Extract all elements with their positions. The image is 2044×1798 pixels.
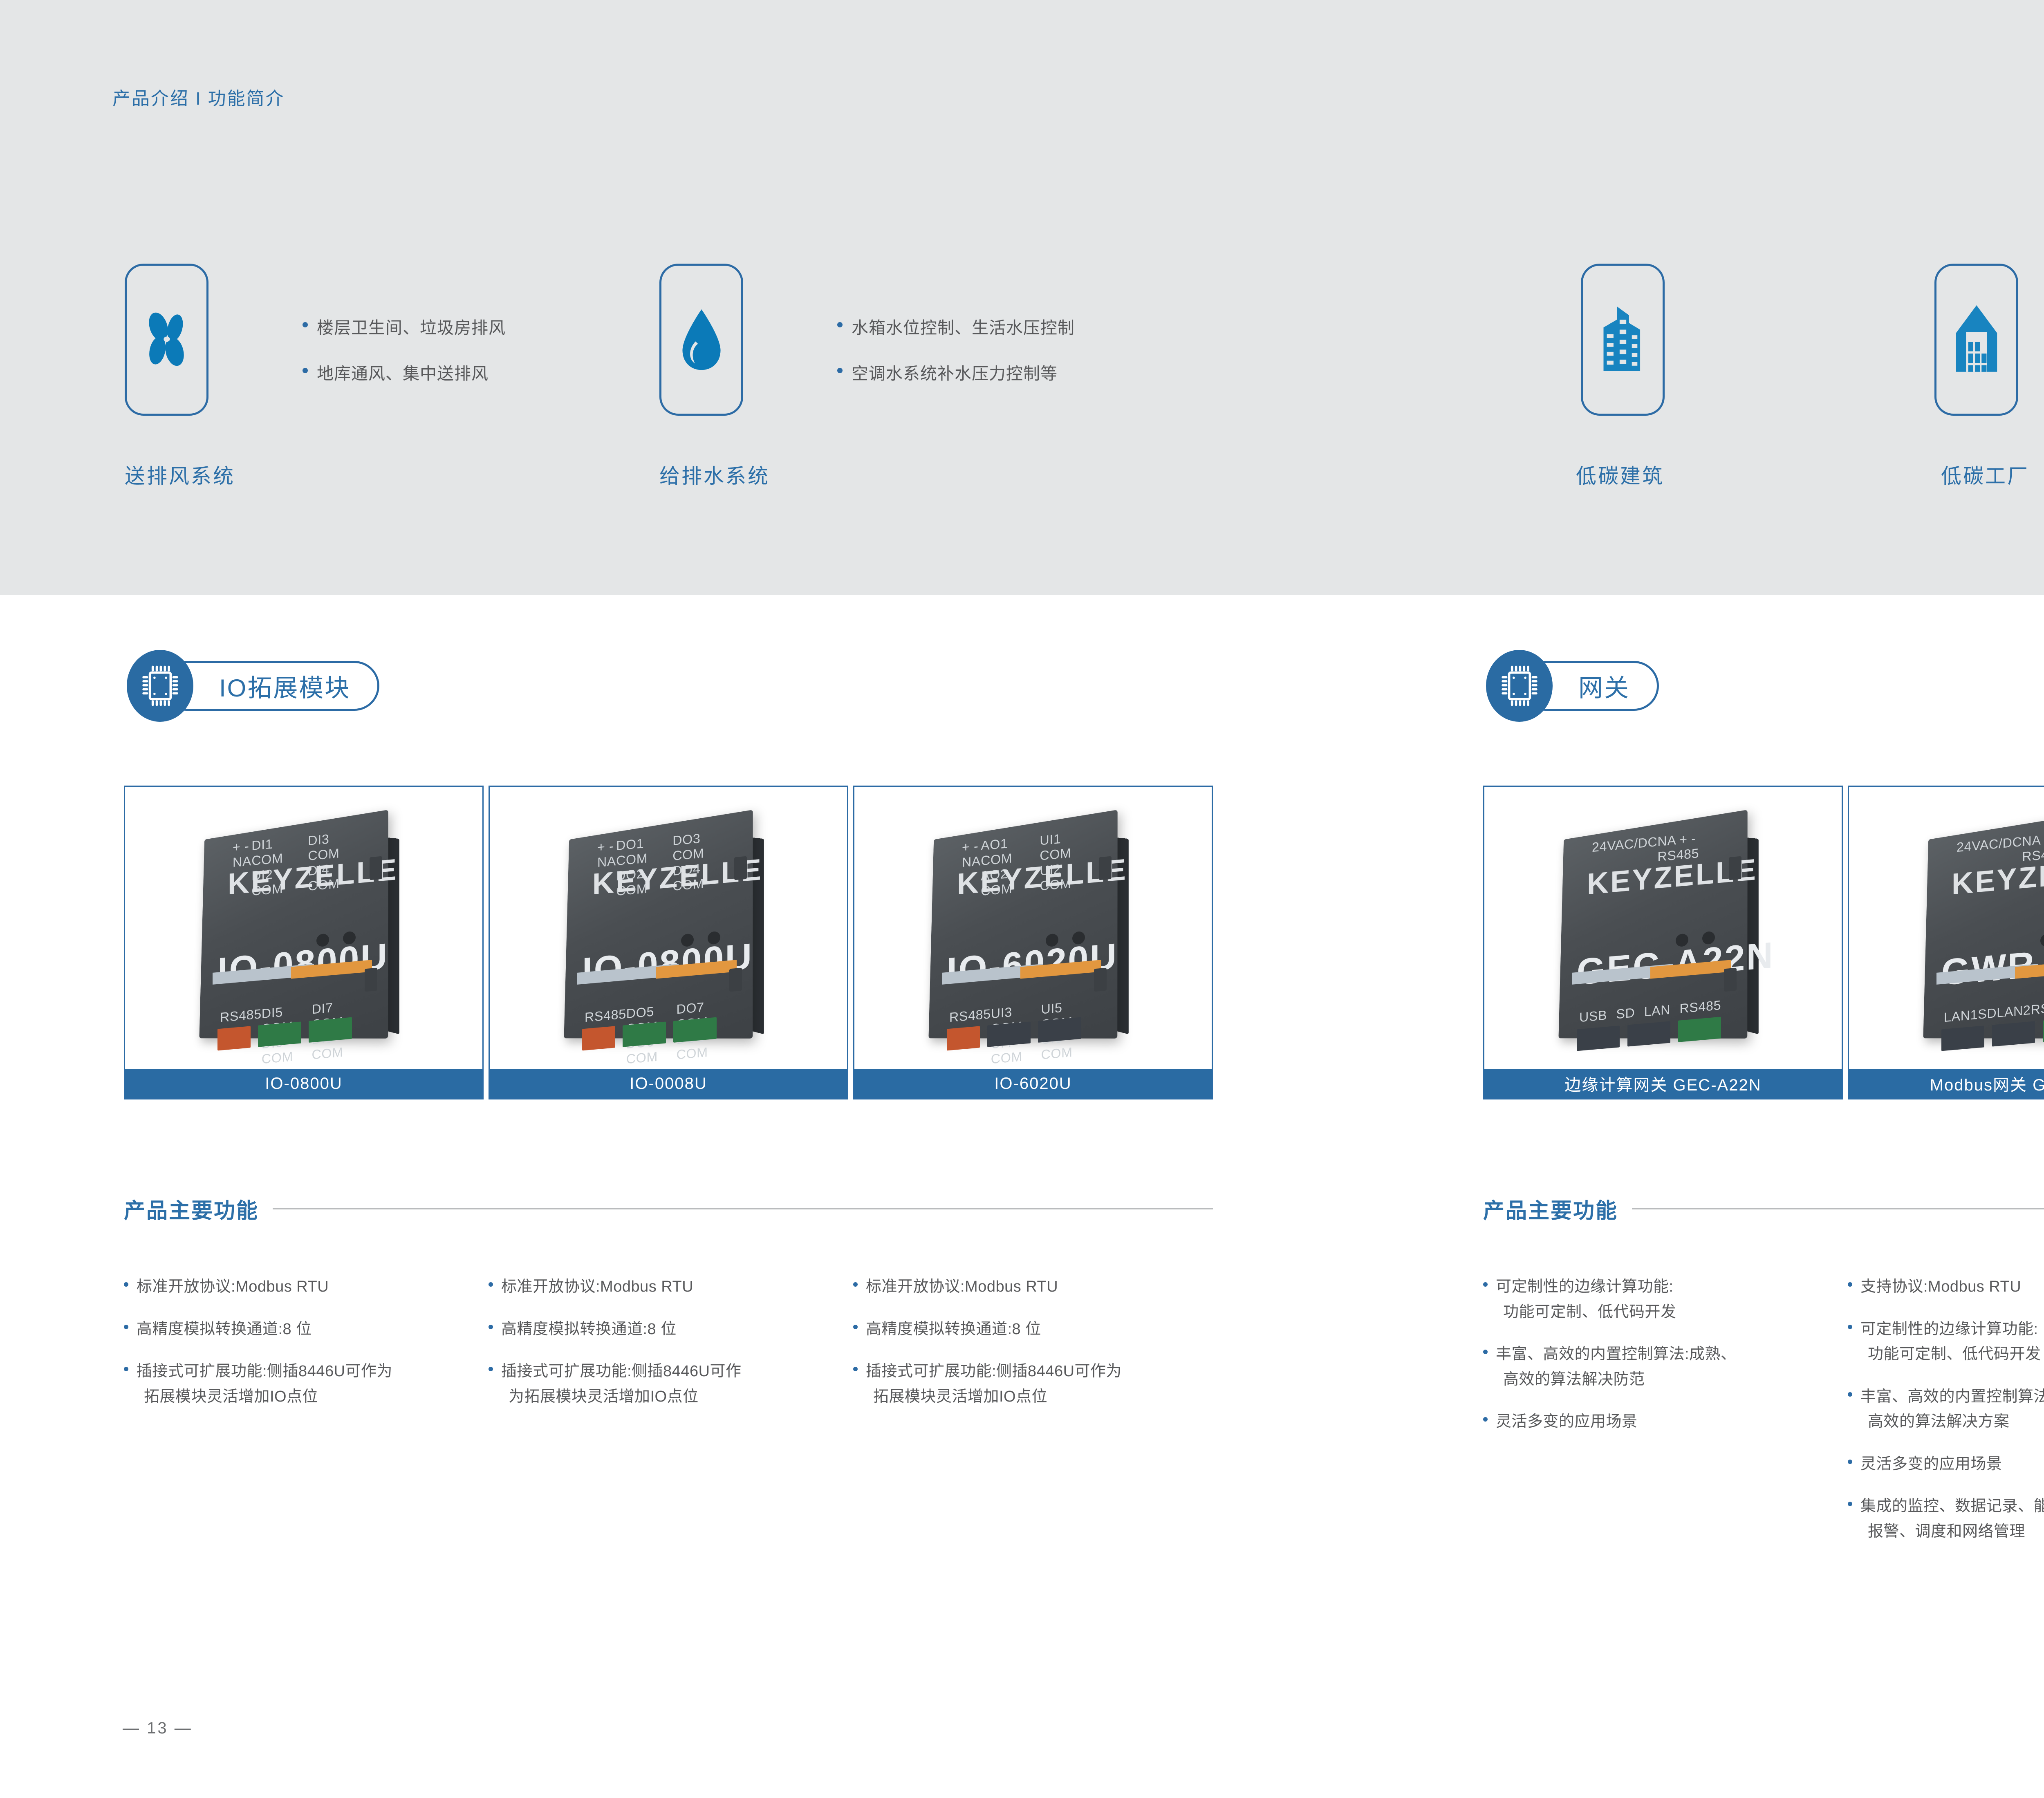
bullet-dot [489,1367,493,1371]
product-label: Modbus网关 GWR-A25N [1849,1069,2044,1098]
feature-text: 灵活多变的应用场景 [1496,1409,1638,1435]
feature-item: 插接式可扩展功能:侧插8446U可作为拓展模块灵活增加IO点位 [489,1359,840,1409]
application-tile-water [659,264,743,416]
bullet-dot [853,1325,858,1329]
feature-column: 标准开放协议:Modbus RTU 高精度模拟转换通道:8 位 插接式可扩展功能… [489,1274,840,1426]
product-photo: + - NA DO1 COM DO2 COM DO3 COM DO4 COM K… [490,787,847,1069]
device-illustration: + - NA DO1 COM DO2 COM DO3 COM DO4 COM K… [542,801,795,1055]
feature-item: 插接式可扩展功能:侧插8446U可作为拓展模块灵活增加IO点位 [853,1359,1213,1409]
device-illustration: 24VAC/DC NA + - RS485 KEYZELLE GWR-A25N … [1901,801,2044,1055]
feature-text: 可定制性的边缘计算功能: [1496,1278,1674,1295]
feature-text: 插接式可扩展功能:侧插8446U可作 [501,1363,742,1380]
product-card[interactable]: 24VAC/DC NA + - RS485 KEYZELLE GWR-A25N … [1848,786,2044,1099]
scene-tile-caption: 低碳工厂 [1941,460,2029,489]
water-drop-icon [677,307,726,372]
bullet-dot [1483,1350,1488,1354]
feature-heading-text: 产品主要功能 [1483,1193,1618,1224]
bullet-item: 地库通风、集中送排风 [303,360,506,384]
bullet-dot [489,1282,493,1287]
product-label: 边缘计算网关 GEC-A22N [1484,1069,1842,1098]
bullet-dot [1848,1325,1852,1329]
feature-heading-left: 产品主要功能 [124,1193,1213,1224]
scene-tile-factory [1934,264,2018,416]
office-building-icon [1592,301,1654,378]
bullet-dot [124,1325,128,1329]
device-illustration: + - NA DI1 COM DI2 COM DI3 COM DI4 COM K… [177,801,430,1055]
feature-text-cont: 高效的算法解决方案 [1860,1409,2044,1435]
device-mount-tab [729,968,742,992]
page-number-left: — 13 — [123,1719,193,1738]
mark-text: USB [1579,1008,1607,1025]
application-tile-caption: 送排风系统 [125,460,235,489]
feature-item: 高精度模拟转换通道:8 位 [489,1317,840,1342]
feature-item: 集成的监控、数据记录、能耗计量、报警、调度和网络管理 [1848,1494,2044,1544]
feature-text-cont: 功能可定制、低代码开发 [1860,1342,2041,1367]
feature-text-cont: 功能可定制、低代码开发 [1496,1300,1676,1325]
feature-text-cont: 报警、调度和网络管理 [1860,1519,2044,1545]
heading-rule [273,1208,1213,1209]
running-head-left: 产品介绍 I 功能简介 [112,84,285,110]
bullet-item: 楼层卫生间、垃圾房排风 [303,314,506,338]
bullet-dot [837,368,843,373]
bullet-text: 水箱水位控制、生活水压控制 [852,314,1075,338]
feature-item: 插接式可扩展功能:侧插8446U可作为拓展模块灵活增加IO点位 [124,1359,475,1409]
top-application-band [0,0,2044,595]
device-mount-tab [370,856,382,880]
feature-item: 标准开放协议:Modbus RTU [853,1274,1213,1300]
product-card[interactable]: + - NA DI1 COM DI2 COM DI3 COM DI4 COM K… [124,786,484,1099]
bullet-item: 水箱水位控制、生活水压控制 [837,314,1075,338]
device-mount-tab [1724,968,1737,992]
device-illustration: + - NA AO1 COM AO2 COM UI1 COM UI2 COM K… [906,801,1160,1055]
feature-item: 丰富、高效的内置控制算法:成熟、高效的算法解决方案 [1848,1384,2044,1435]
feature-item: 丰富、高效的内置控制算法:成熟、高效的算法解决防范 [1483,1342,1810,1392]
heading-rule [1632,1208,2044,1209]
bullet-dot [1848,1460,1852,1464]
feature-item: 灵活多变的应用场景 [1848,1452,2044,1477]
bullet-dot [1483,1417,1488,1422]
bullet-dot [489,1325,493,1329]
factory-icon [1946,301,2007,378]
bullet-text: 地库通风、集中送排风 [317,360,489,384]
bullet-dot [124,1367,128,1371]
device-mount-tab [365,968,377,992]
section-badge-io: IO拓展模块 [127,650,379,722]
feature-column: 标准开放协议:Modbus RTU 高精度模拟转换通道:8 位 插接式可扩展功能… [853,1274,1213,1426]
feature-text: 标准开放协议:Modbus RTU [137,1274,329,1300]
product-photo: + - NA DI1 COM DI2 COM DI3 COM DI4 COM K… [125,787,482,1069]
feature-column: 标准开放协议:Modbus RTU 高精度模拟转换通道:8 位 插接式可扩展功能… [124,1274,475,1426]
feature-item: 标准开放协议:Modbus RTU [124,1274,475,1300]
product-card[interactable]: + - NA DO1 COM DO2 COM DO3 COM DO4 COM K… [489,786,848,1099]
bullet-dot [853,1367,858,1371]
bullet-text: 楼层卫生间、垃圾房排风 [317,314,506,338]
bullet-dot [303,368,308,373]
water-bullets: 水箱水位控制、生活水压控制 空调水系统补水压力控制等 [837,314,1075,405]
feature-text: 灵活多变的应用场景 [1860,1452,2002,1477]
feature-text: 插接式可扩展功能:侧插8446U可作为 [866,1363,1122,1380]
feature-text: 支持协议:Modbus RTU [1860,1274,2021,1300]
bullet-dot [1483,1282,1488,1287]
device-mount-tab [734,856,747,880]
section-badge-gateway: 网关 [1486,650,1659,722]
device-mount-tab [1099,856,1112,880]
feature-item: 支持协议:Modbus RTU [1848,1274,2044,1300]
feature-item: 可定制性的边缘计算功能:功能可定制、低代码开发 [1848,1317,2044,1367]
feature-column: 可定制性的边缘计算功能:功能可定制、低代码开发 丰富、高效的内置控制算法:成熟、… [1483,1274,1810,1452]
chip-circle [1486,650,1553,722]
feature-item: 灵活多变的应用场景 [1483,1409,1810,1435]
feature-item: 高精度模拟转换通道:8 位 [853,1317,1213,1342]
bullet-dot [303,322,308,327]
product-label: IO-0008U [490,1069,847,1098]
brochure-page: 产品介绍 I 功能简介 产品介绍 I 功能简介 楼层卫生间、垃圾房排风 地库通风… [0,0,2044,1798]
product-label: IO-0800U [125,1069,482,1098]
device-mount-tab [1729,856,1741,880]
feature-text: 高精度模拟转换通道:8 位 [866,1317,1041,1342]
product-photo: + - NA AO1 COM AO2 COM UI1 COM UI2 COM K… [854,787,1212,1069]
chip-circle [127,650,193,722]
device-mount-tab [1094,968,1107,992]
product-photo: 24VAC/DC NA + - RS485 KEYZELLE GEC-A22N … [1484,787,1842,1069]
scene-tile-building [1581,264,1665,416]
feature-text: 集成的监控、数据记录、能耗计量、 [1860,1498,2044,1515]
bullet-dot [837,322,843,327]
fan-icon [141,309,193,370]
bullet-dot [1848,1392,1852,1397]
bullet-dot [1848,1282,1852,1287]
feature-text: 标准开放协议:Modbus RTU [501,1274,693,1300]
feature-text-cont: 高效的算法解决防范 [1496,1367,1737,1393]
bullet-item: 空调水系统补水压力控制等 [837,360,1075,384]
feature-text-cont: 拓展模块灵活增加IO点位 [866,1384,1122,1410]
product-photo: 24VAC/DC NA + - RS485 KEYZELLE GWR-A25N … [1849,787,2044,1069]
feature-text: 插接式可扩展功能:侧插8446U可作为 [137,1363,392,1380]
feature-column: 支持协议:Modbus RTU 可定制性的边缘计算功能:功能可定制、低代码开发 … [1848,1274,2044,1561]
feature-text-cont: 拓展模块灵活增加IO点位 [137,1384,392,1410]
feature-text-cont: 为拓展模块灵活增加IO点位 [501,1384,742,1410]
chip-icon [140,663,181,708]
fan-bullets: 楼层卫生间、垃圾房排风 地库通风、集中送排风 [303,314,506,405]
application-tile-fan [125,264,208,416]
application-tile-caption: 给排水系统 [659,460,770,489]
bullet-text: 空调水系统补水压力控制等 [852,360,1058,384]
section-badge-label: IO拓展模块 [161,661,379,711]
bullet-dot [124,1282,128,1287]
mark-text: SD [1616,1005,1635,1022]
feature-text: 丰富、高效的内置控制算法:成熟、 [1496,1346,1737,1363]
feature-item: 高精度模拟转换通道:8 位 [124,1317,475,1342]
scene-tile-caption: 低碳建筑 [1576,460,1664,489]
feature-item: 可定制性的边缘计算功能:功能可定制、低代码开发 [1483,1274,1810,1325]
feature-text: 丰富、高效的内置控制算法:成熟、 [1860,1388,2044,1405]
product-card[interactable]: 24VAC/DC NA + - RS485 KEYZELLE GEC-A22N … [1483,786,1843,1099]
feature-heading-right: 产品主要功能 [1483,1193,2044,1224]
bullet-dot [853,1282,858,1287]
product-card[interactable]: + - NA AO1 COM AO2 COM UI1 COM UI2 COM K… [853,786,1213,1099]
feature-text: 标准开放协议:Modbus RTU [866,1274,1058,1300]
feature-heading-text: 产品主要功能 [124,1193,259,1224]
bullet-dot [1848,1502,1852,1506]
feature-item: 标准开放协议:Modbus RTU [489,1274,840,1300]
device-illustration: 24VAC/DC NA + - RS485 KEYZELLE GEC-A22N … [1536,801,1790,1055]
chip-icon [1499,663,1540,708]
feature-text: 可定制性的边缘计算功能: [1860,1321,2038,1338]
feature-text: 高精度模拟转换通道:8 位 [501,1317,677,1342]
product-label: IO-6020U [854,1069,1212,1098]
feature-text: 高精度模拟转换通道:8 位 [137,1317,312,1342]
mark-text: LAN [1644,1002,1671,1020]
